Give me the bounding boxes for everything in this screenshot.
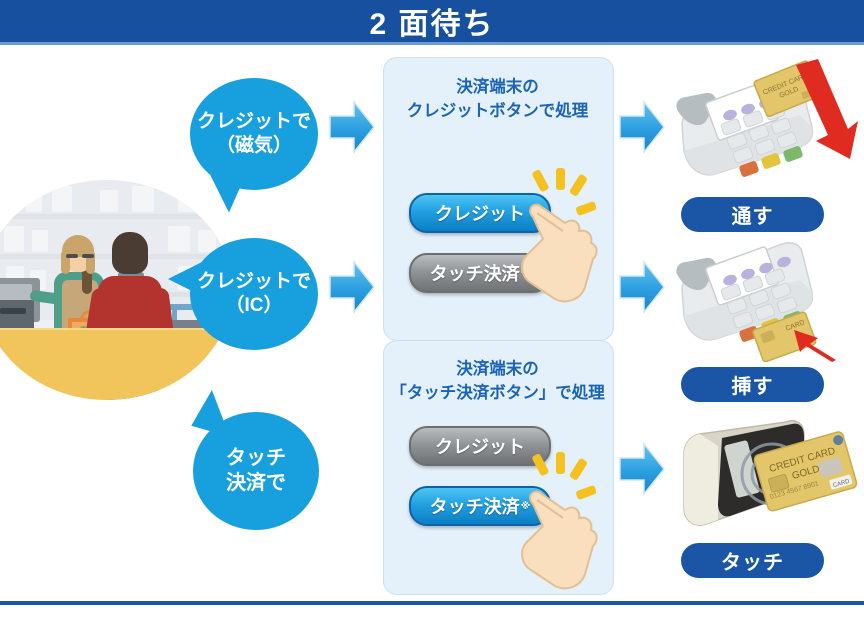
- customer-head: [112, 232, 148, 274]
- shelf-goods: [168, 226, 190, 252]
- panel-title-line-2: 「タッチ決済ボタン」で処理: [383, 382, 612, 406]
- bubble-line-2: （IC）: [225, 294, 282, 318]
- bubble-line-1: タッチ: [226, 446, 286, 471]
- shelf-board: [0, 254, 222, 259]
- bubble-line-2: （磁気）: [216, 134, 292, 158]
- flow-arrow-right-icon: [328, 258, 376, 316]
- panel-title-line-1: 決済端末の: [383, 358, 612, 382]
- device-contactless-reader: CREDIT CARD GOLD CARD 0123 4567 8901: [660, 412, 860, 547]
- bubble-line-2: 決済で: [226, 471, 286, 496]
- terminal-button-label: タッチ決済: [430, 493, 520, 519]
- flow-arrow-right-icon: [618, 440, 666, 498]
- terminal-button-label: タッチ決済: [430, 260, 520, 286]
- device-terminal-insert: CARD: [660, 232, 860, 367]
- shelf-goods: [198, 230, 216, 252]
- terminal-button-label: クレジット: [435, 433, 525, 459]
- shelf-board: [0, 214, 222, 219]
- footer-divider: [0, 601, 864, 605]
- clerk-eye: [82, 254, 94, 258]
- shelf-goods: [4, 226, 24, 252]
- result-label: 挿す: [732, 370, 774, 399]
- flow-arrow-right-icon: [618, 98, 666, 156]
- result-pill-swipe: 通す: [681, 197, 824, 232]
- shelf-goods: [178, 190, 198, 212]
- shelf-goods: [2, 188, 20, 212]
- result-label: 通す: [732, 200, 774, 229]
- result-pill-insert: 挿す: [681, 367, 824, 402]
- checkout-counter: [0, 330, 232, 400]
- result-label: タッチ: [721, 546, 784, 575]
- register-slot: [0, 308, 26, 314]
- pointing-hand-icon: [513, 470, 605, 597]
- flow-arrow-right-icon: [618, 258, 666, 316]
- device-terminal-swipe: CREDIT CARD GOLD: [660, 55, 860, 190]
- shelf-goods: [32, 230, 48, 252]
- panel-credit-button-title: 決済端末の クレジットボタンで処理: [383, 76, 612, 124]
- shelf-goods: [26, 192, 42, 212]
- bubble-credit-magnetic: クレジットで （磁気）: [190, 78, 318, 190]
- shelf-goods: [52, 186, 72, 212]
- flow-arrow-right-icon: [328, 98, 376, 156]
- clerk-eye: [66, 254, 78, 258]
- panel-title-line-1: 決済端末の: [383, 76, 612, 100]
- bubble-touch-payment: タッチ 決済で: [193, 412, 319, 530]
- panel-touch-button-title: 決済端末の 「タッチ決済ボタン」で処理: [383, 358, 612, 406]
- bubble-credit-ic: クレジットで （IC）: [190, 238, 318, 350]
- bubble-line-1: クレジットで: [197, 110, 311, 134]
- page-title: 2 面待ち: [0, 0, 864, 42]
- shelf-goods: [132, 186, 154, 212]
- bubble-line-1: クレジットで: [197, 270, 311, 294]
- pointing-hand-icon: [513, 183, 605, 310]
- result-pill-touch: タッチ: [681, 543, 824, 578]
- panel-title-line-2: クレジットボタンで処理: [383, 100, 612, 124]
- terminal-button-label: クレジット: [435, 200, 525, 226]
- shelf-goods: [100, 190, 118, 212]
